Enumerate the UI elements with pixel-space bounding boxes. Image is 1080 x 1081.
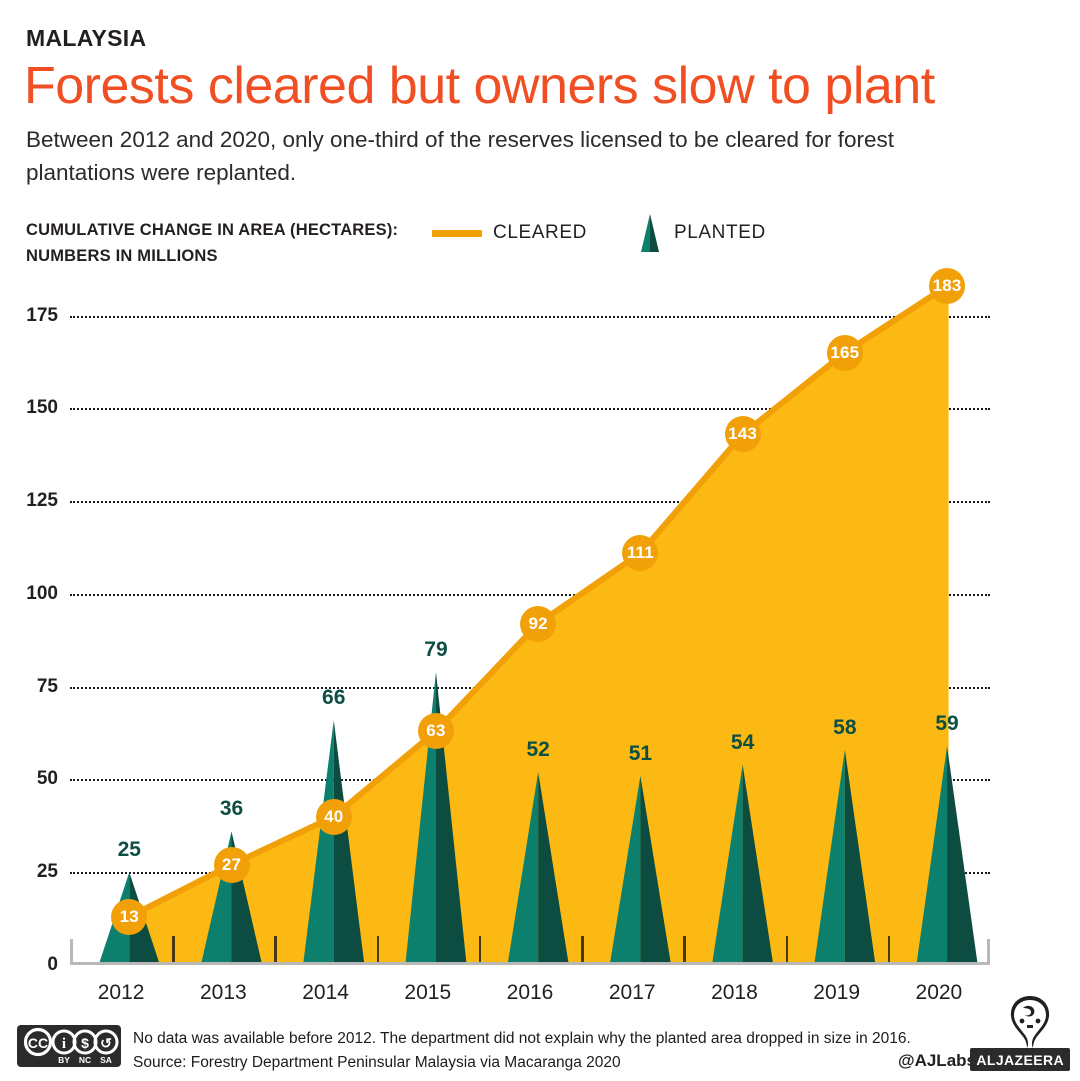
planted-tree-2018 — [712, 765, 773, 965]
planted-tree-2019 — [814, 750, 875, 965]
planted-value-label: 59 — [935, 712, 958, 736]
plot-region: 1327406392111143165183 25366679525154585… — [70, 260, 990, 965]
x-axis-tick — [274, 936, 277, 962]
x-axis-end-cap — [987, 939, 990, 965]
x-axis-label-2015: 2015 — [404, 981, 451, 1005]
y-axis-tick-label: 125 — [26, 490, 58, 512]
legend-item-cleared[interactable]: CLEARED — [432, 222, 587, 244]
footer: CC i $ ↺ BY NC SA No data was available … — [0, 1012, 1080, 1081]
x-axis-tick — [377, 936, 380, 962]
cleared-value-marker[interactable]: 13 — [111, 899, 147, 935]
footnote-line-2: Source: Forestry Department Peninsular M… — [133, 1051, 913, 1075]
x-axis-tick — [786, 936, 789, 962]
x-axis-label-2018: 2018 — [711, 981, 758, 1005]
y-axis-tick-label: 75 — [37, 676, 58, 698]
svg-text:BY: BY — [58, 1055, 70, 1065]
kicker-label: MALAYSIA — [26, 25, 146, 52]
x-axis-label-2013: 2013 — [200, 981, 247, 1005]
x-axis-tick — [888, 936, 891, 962]
planted-tree-2014 — [303, 720, 364, 965]
x-axis-tick — [683, 936, 686, 962]
svg-text:NC: NC — [79, 1055, 91, 1065]
cleared-value-marker[interactable]: 183 — [929, 268, 965, 304]
cleared-value-marker[interactable]: 63 — [418, 713, 454, 749]
footnote-line-1: No data was available before 2012. The d… — [133, 1027, 913, 1051]
svg-text:SA: SA — [100, 1055, 112, 1065]
svg-text:CC: CC — [28, 1035, 48, 1051]
legend-item-planted[interactable]: PLANTED — [637, 214, 766, 252]
planted-value-label: 36 — [220, 797, 243, 821]
footnote-text: No data was available before 2012. The d… — [133, 1027, 913, 1075]
planted-value-label: 52 — [526, 738, 549, 762]
cleared-value-marker[interactable]: 111 — [622, 535, 658, 571]
line-swatch-icon — [432, 230, 482, 237]
y-axis-tick-label: 150 — [26, 397, 58, 419]
y-axis-tick-label: 175 — [26, 305, 58, 327]
cleared-value-marker[interactable]: 143 — [725, 416, 761, 452]
cleared-value-marker[interactable]: 165 — [827, 335, 863, 371]
planted-value-label: 51 — [629, 742, 652, 766]
chart-legend: CLEARED PLANTED — [432, 214, 766, 252]
axis-title-line1: CUMULATIVE CHANGE IN AREA (HECTARES): — [26, 218, 398, 244]
x-axis-tick — [479, 936, 482, 962]
x-axis-label-2014: 2014 — [302, 981, 349, 1005]
y-axis-tick-label: 100 — [26, 583, 58, 605]
planted-value-label: 54 — [731, 731, 754, 755]
creative-commons-icon: CC i $ ↺ BY NC SA — [17, 1025, 121, 1067]
x-axis-tick — [172, 936, 175, 962]
subtitle-text: Between 2012 and 2020, only one-third of… — [26, 124, 1006, 189]
y-axis-tick-label: 0 — [47, 954, 58, 976]
x-axis-label-2017: 2017 — [609, 981, 656, 1005]
cleared-value-marker[interactable]: 27 — [214, 847, 250, 883]
legend-label-planted: PLANTED — [674, 222, 766, 244]
cleared-value-marker[interactable]: 40 — [316, 799, 352, 835]
planted-value-label: 66 — [322, 686, 345, 710]
planted-value-label: 79 — [424, 638, 447, 662]
y-axis-tick-label: 25 — [37, 861, 58, 883]
x-axis-tick — [581, 936, 584, 962]
planted-value-label: 25 — [118, 838, 141, 862]
svg-text:$: $ — [81, 1035, 89, 1051]
tree-icon — [637, 214, 663, 252]
x-axis-line — [70, 962, 990, 965]
x-axis-label-2016: 2016 — [507, 981, 554, 1005]
planted-tree-2020 — [916, 746, 977, 965]
y-axis-tick-label: 50 — [37, 768, 58, 790]
x-axis-start-cap — [70, 939, 73, 965]
svg-text:i: i — [62, 1036, 66, 1052]
aj-labs-handle: @AJLabs — [898, 1051, 976, 1071]
cleared-value-marker[interactable]: 92 — [520, 606, 556, 642]
planted-tree-2016 — [508, 772, 569, 965]
x-axis-label-2019: 2019 — [813, 981, 860, 1005]
legend-label-cleared: CLEARED — [493, 222, 587, 244]
chart-area: 0255075100125150175 13274063921111431651… — [0, 260, 1080, 1000]
y-axis-labels: 0255075100125150175 — [0, 260, 70, 965]
x-axis-label-2020: 2020 — [916, 981, 963, 1005]
aljazeera-logo-icon — [994, 992, 1066, 1052]
page-title: Forests cleared but owners slow to plant — [24, 56, 935, 116]
x-axis-label-2012: 2012 — [98, 981, 145, 1005]
planted-value-label: 58 — [833, 716, 856, 740]
svg-text:↺: ↺ — [100, 1035, 112, 1051]
planted-tree-2017 — [610, 776, 671, 965]
